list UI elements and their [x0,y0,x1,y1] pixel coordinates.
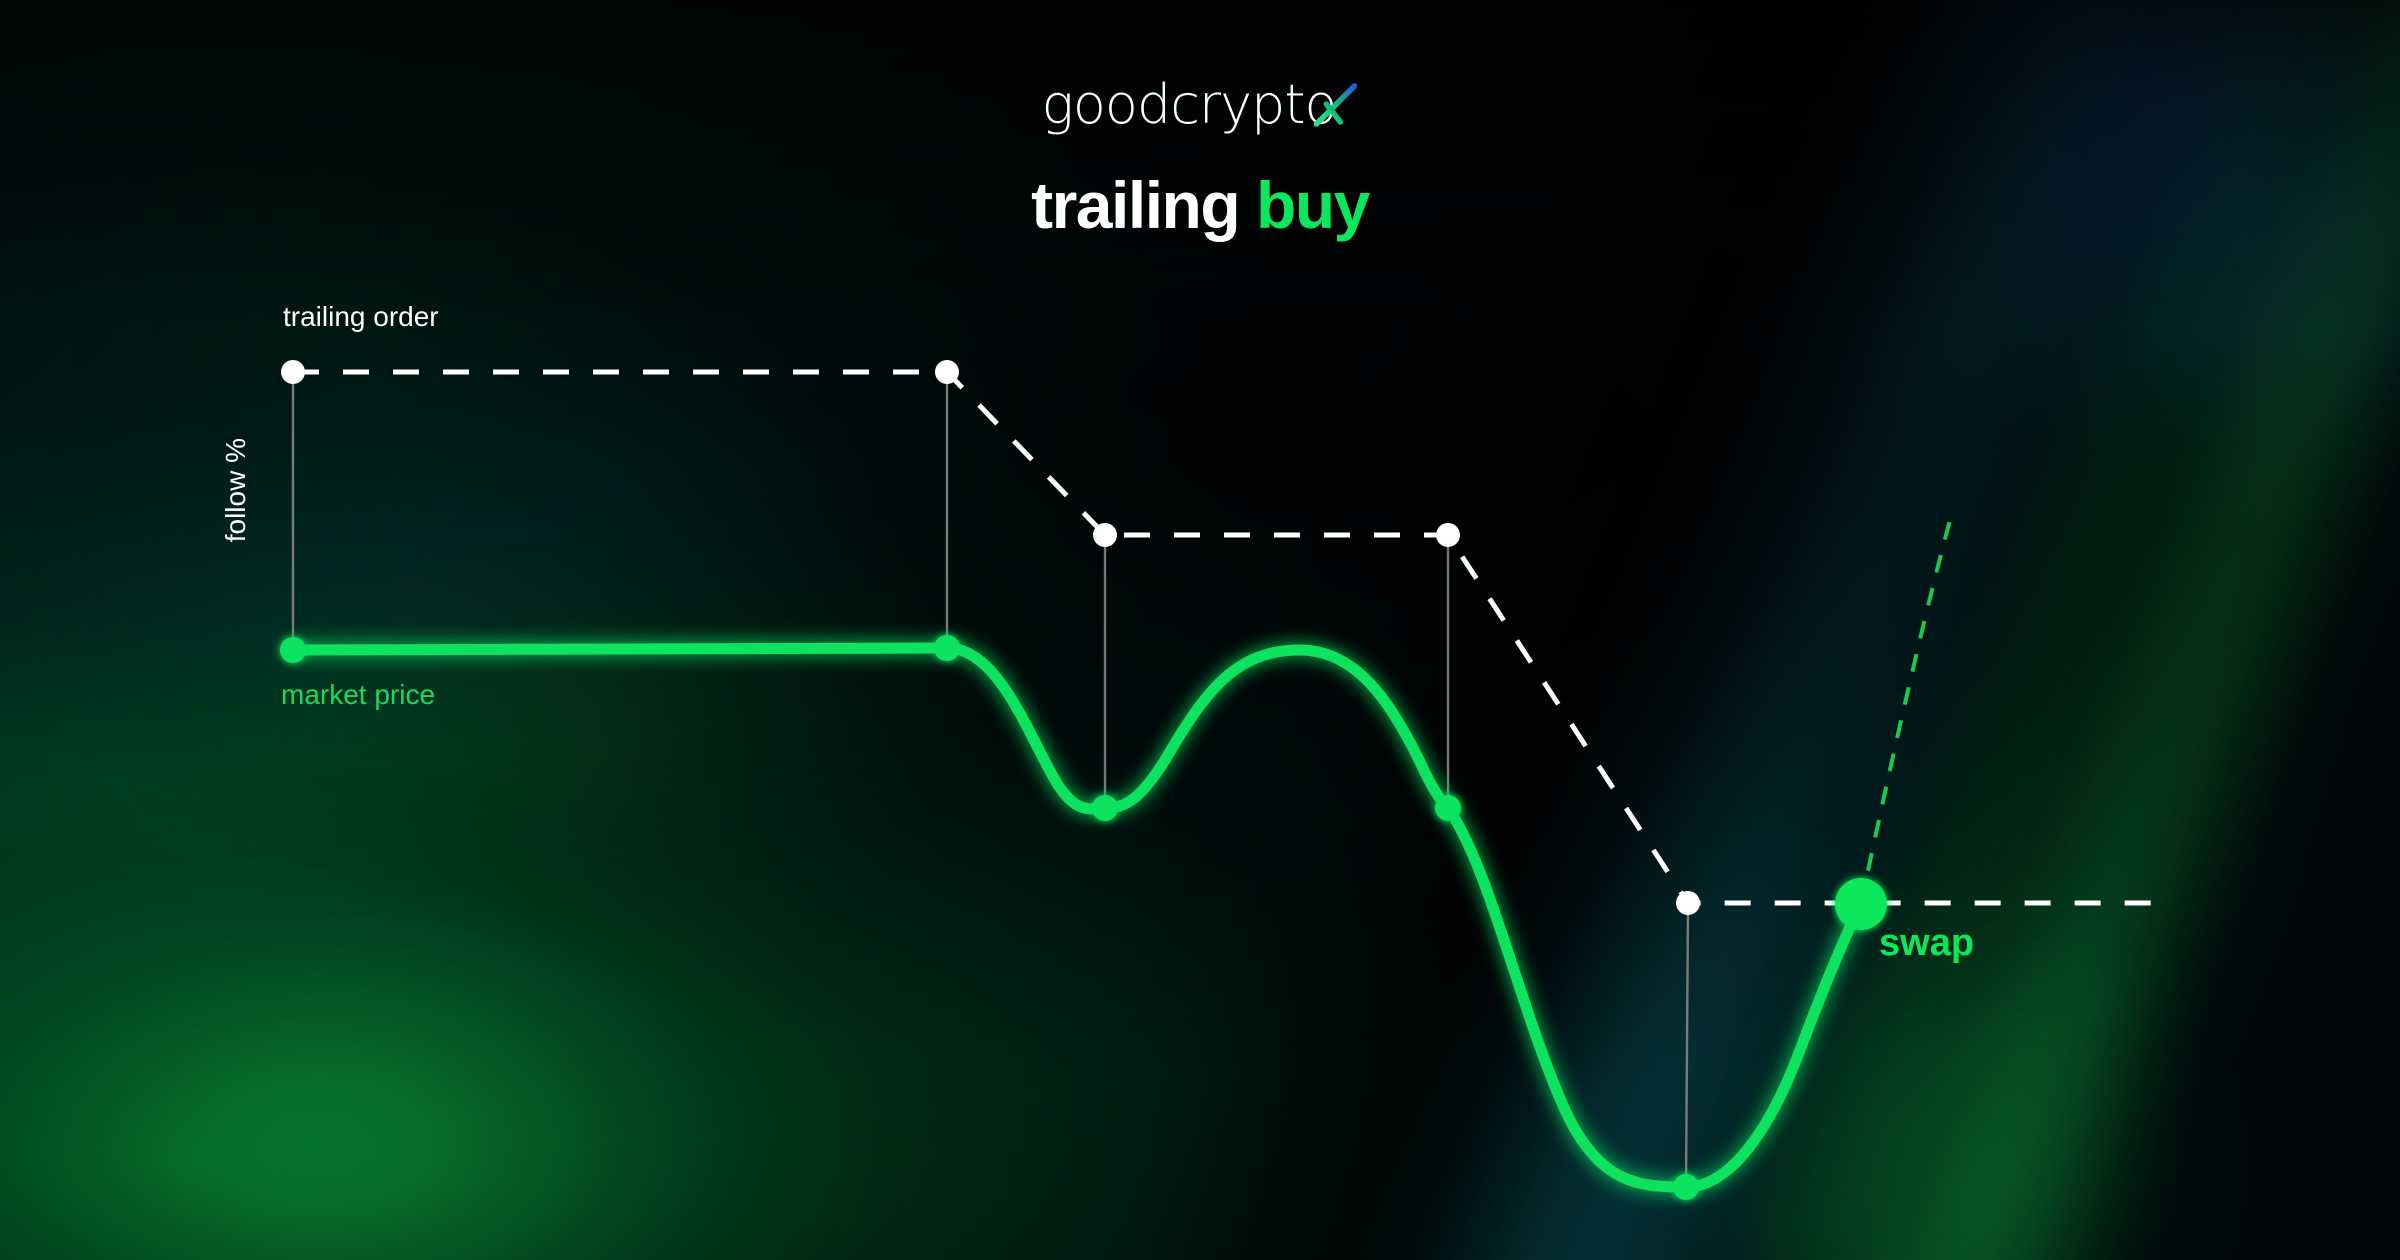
trailing-order-markers [281,360,1700,915]
infographic-canvas: goodcrypto trailing buy [0,0,2400,1260]
trailing-marker-1 [281,360,305,384]
market-marker-min-2 [1673,1174,1699,1200]
trailing-order-line [293,372,2165,903]
market-marker-min-1 [1092,795,1118,821]
trailing-marker-2 [935,360,959,384]
label-trailing-order: trailing order [283,303,439,331]
market-price-markers [280,635,1699,1200]
trailing-marker-4 [1436,523,1460,547]
label-market-price: market price [281,681,435,709]
connector-5 [1686,903,1688,1187]
trailing-buy-chart: trailing order follow % market price swa… [0,0,2400,1260]
connector-lines [293,372,1688,1187]
trailing-marker-5 [1676,891,1700,915]
market-marker-start [280,637,306,663]
market-price-curve [293,648,1861,1187]
label-follow-percent: follow % [222,438,250,542]
label-swap: swap [1879,924,1974,962]
trailing-marker-3 [1093,523,1117,547]
market-marker-flat-end [934,635,960,661]
market-marker-cross [1435,795,1461,821]
projection-line [1861,520,1950,904]
